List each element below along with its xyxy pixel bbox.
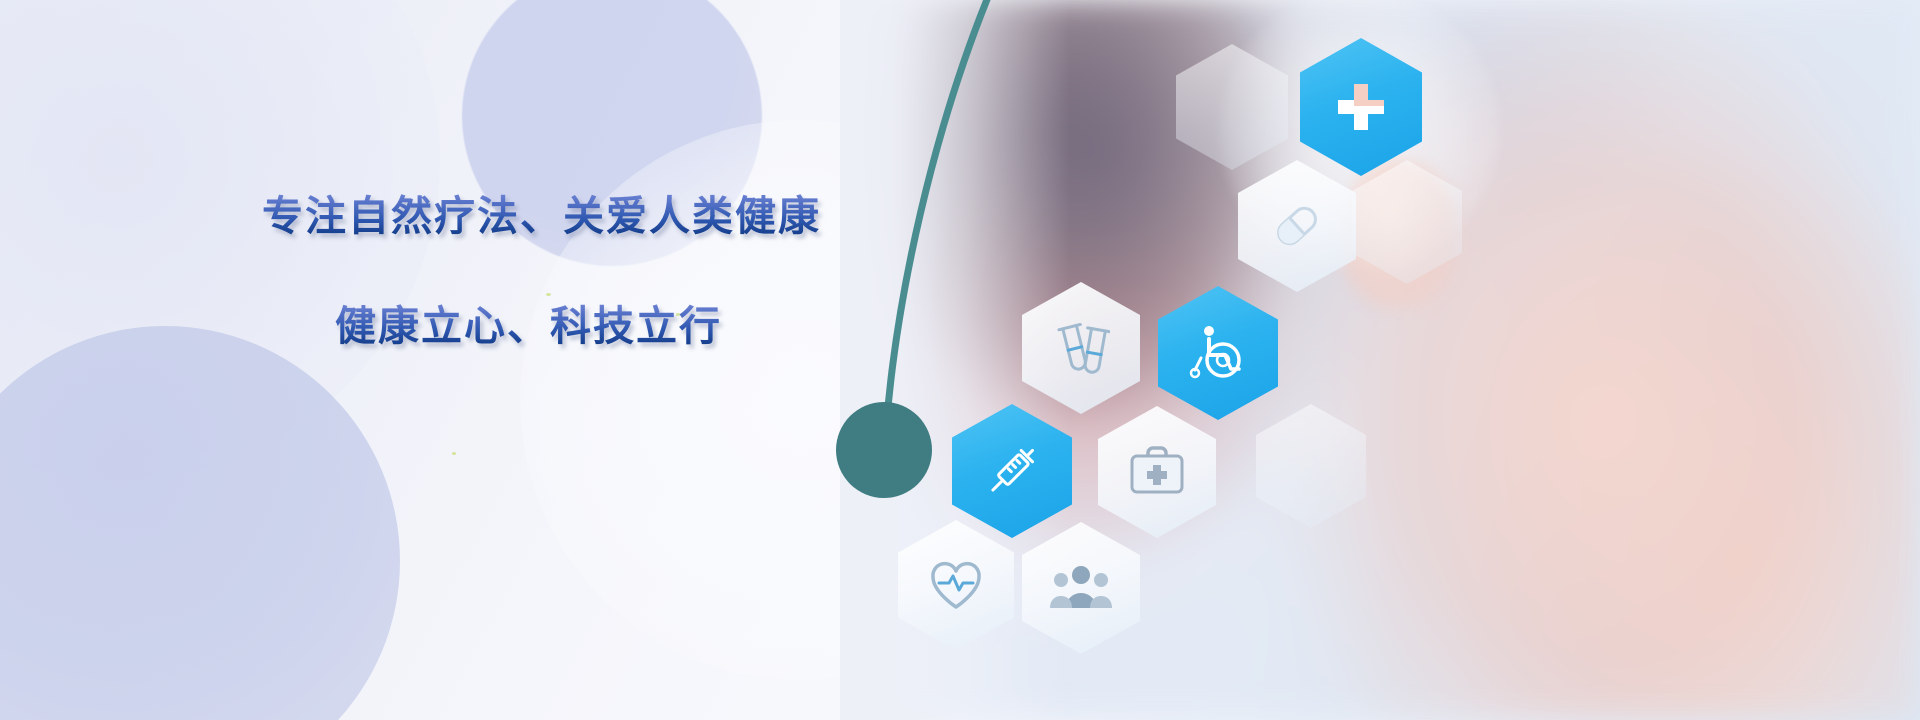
headline-block: 专注自然疗法、关爱人类健康 健康立心、科技立行 [0,0,840,720]
health-banner: 专注自然疗法、关爱人类健康 健康立心、科技立行 [0,0,1920,720]
teal-arc-group [820,0,1080,720]
teal-dot [836,402,932,498]
headline-primary: 专注自然疗法、关爱人类健康 [262,193,821,239]
headline-secondary: 健康立心、科技立行 [335,303,722,349]
teal-arc [886,0,995,430]
